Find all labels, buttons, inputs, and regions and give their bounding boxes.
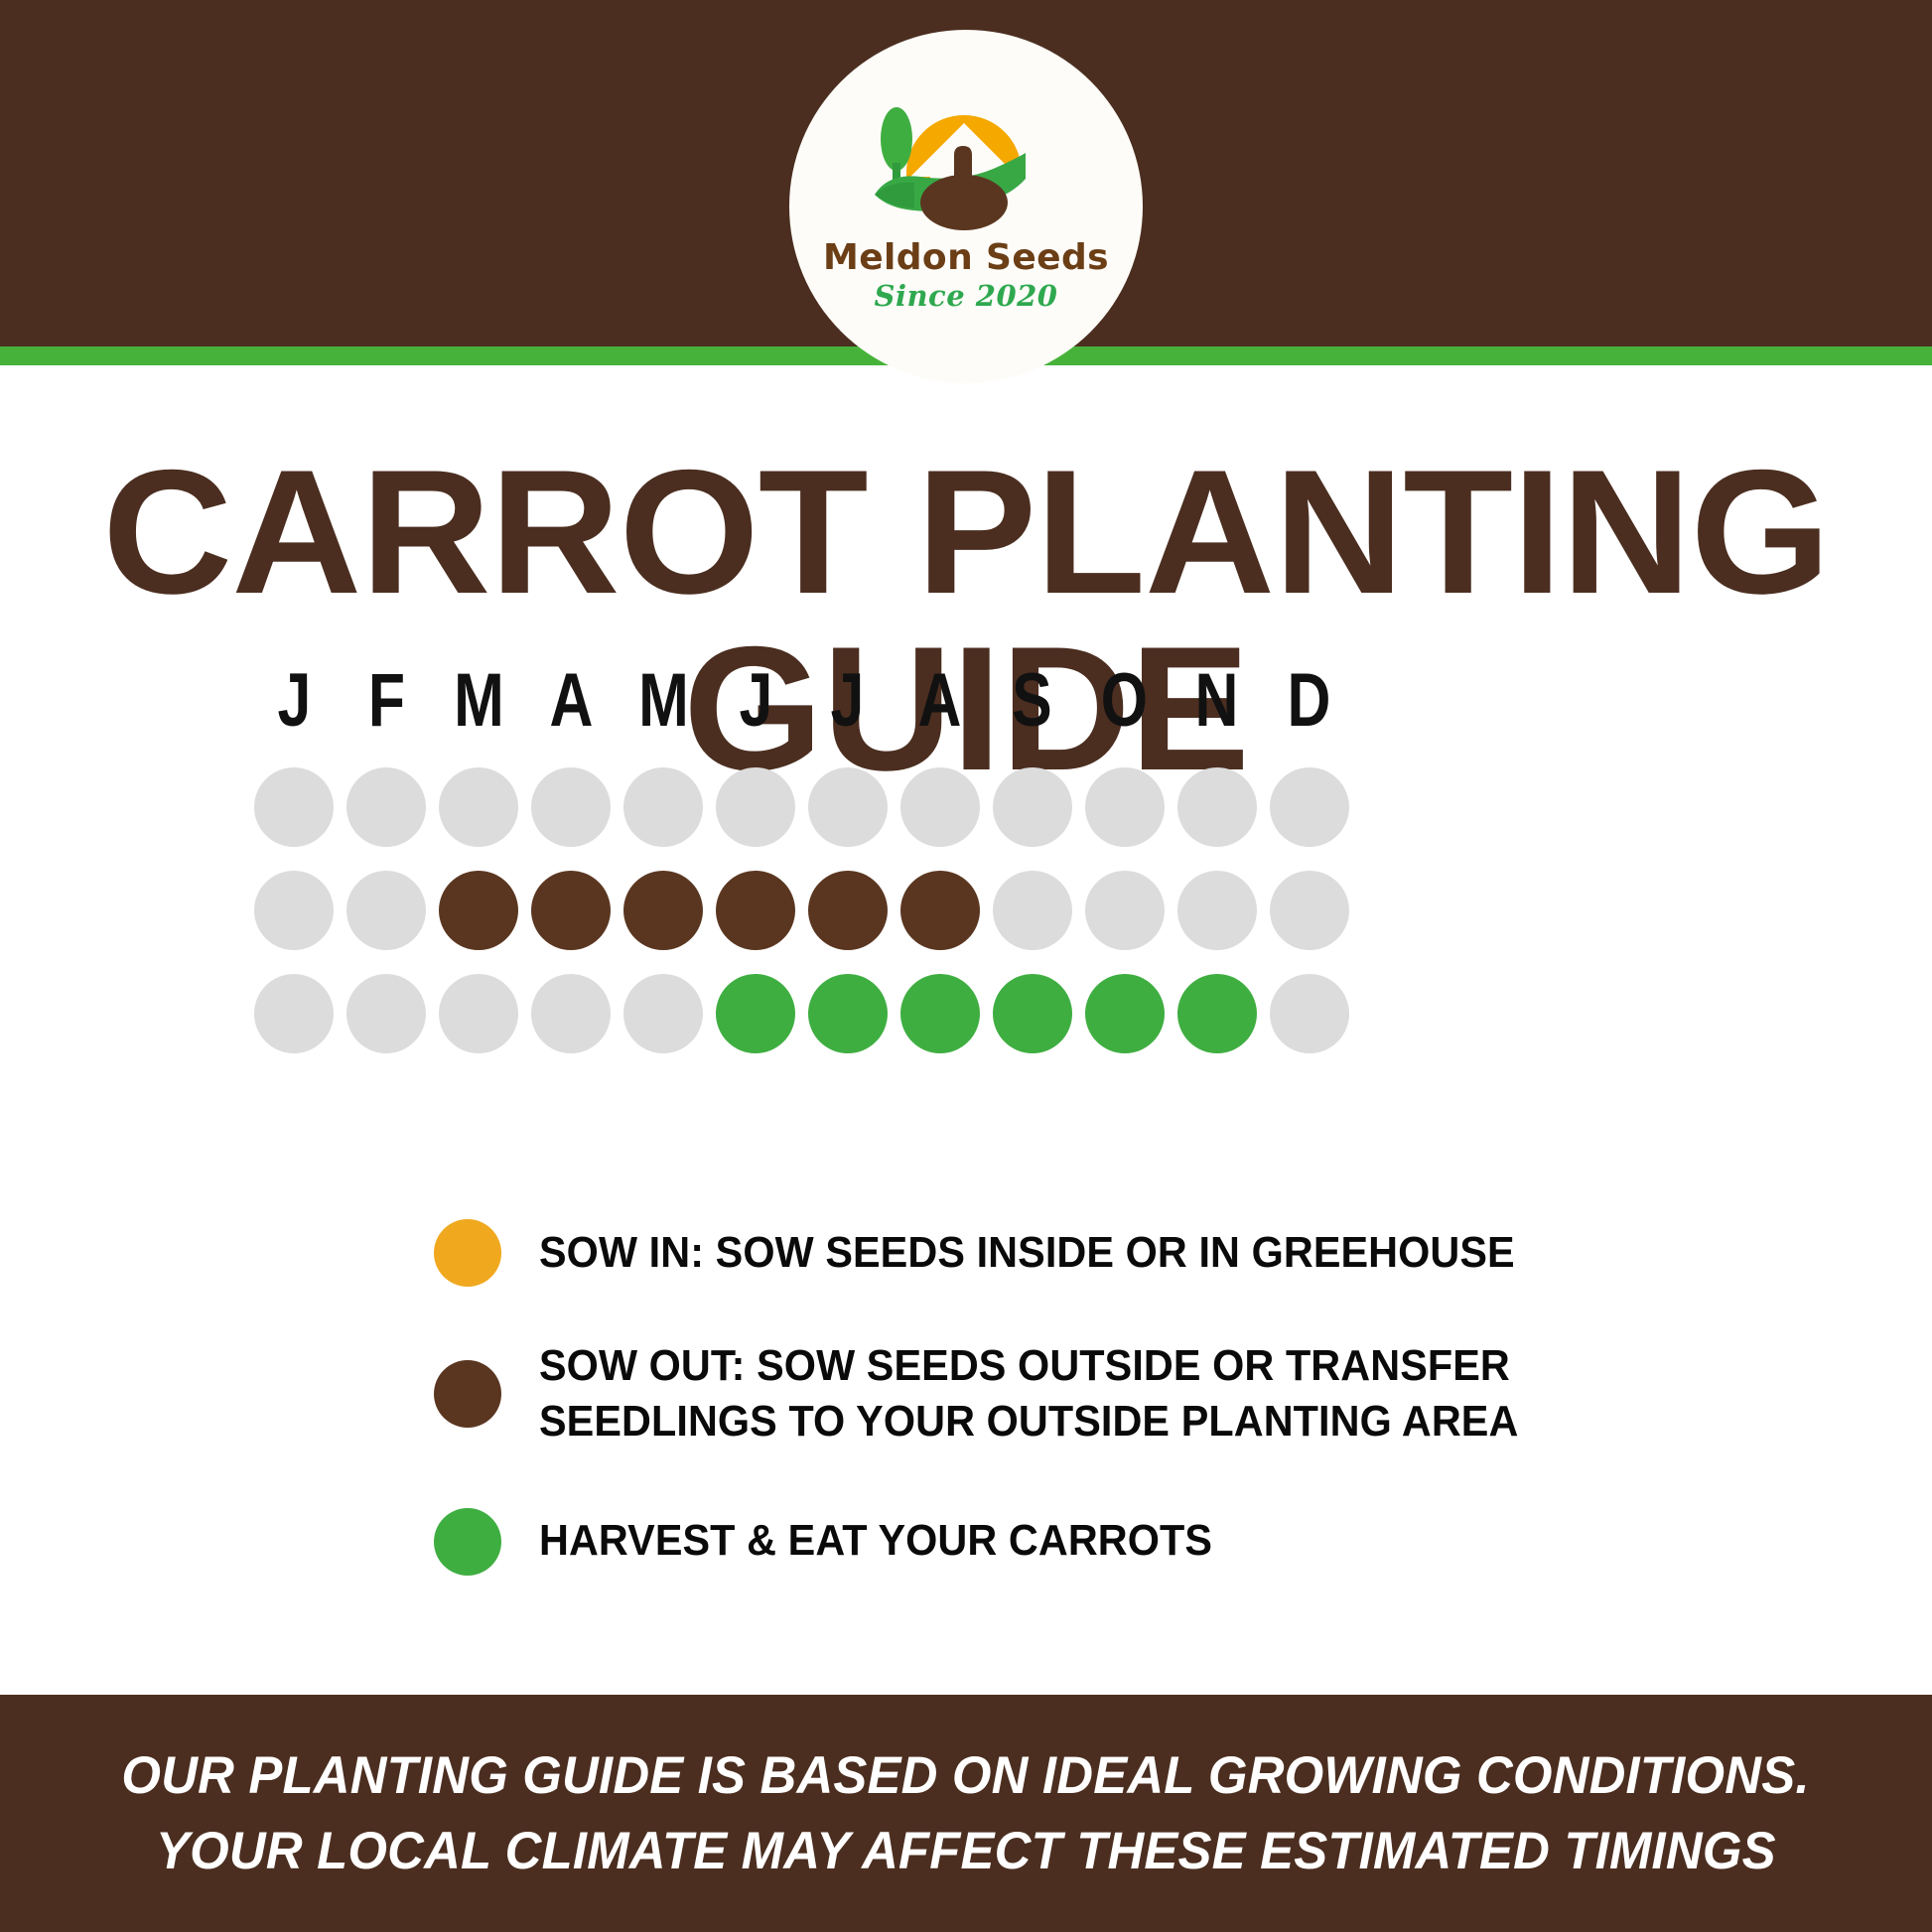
calendar-dot-sow_in-nov bbox=[1177, 767, 1257, 847]
calendar-dot-sow_in-sep bbox=[993, 767, 1072, 847]
calendar-dot-harvest-jan bbox=[254, 974, 334, 1053]
calendar-dot-harvest-apr bbox=[531, 974, 611, 1053]
month-label-aug: A bbox=[903, 663, 977, 739]
calendar-dot-sow_out-aug bbox=[900, 871, 980, 950]
legend: SOW IN: SOW SEEDS INSIDE OR IN GREEHOUSE… bbox=[0, 1219, 1932, 1627]
calendar-cell-sow_out-may bbox=[618, 871, 710, 950]
legend-swatch-wrap-sow-out bbox=[362, 1360, 501, 1428]
calendar-dot-sow_out-nov bbox=[1177, 871, 1257, 950]
calendar-dot-harvest-mar bbox=[439, 974, 518, 1053]
month-label-jun: J bbox=[719, 663, 792, 739]
calendar-dot-harvest-may bbox=[623, 974, 703, 1053]
calendar-cell-harvest-jan bbox=[248, 974, 341, 1053]
calendar-dot-harvest-jun bbox=[716, 974, 795, 1053]
calendar-dot-harvest-sep bbox=[993, 974, 1072, 1053]
month-label-mar: M bbox=[442, 663, 515, 739]
footer-line-1: OUR PLANTING GUIDE IS BASED ON IDEAL GRO… bbox=[122, 1738, 1810, 1813]
legend-swatch-sow-out bbox=[434, 1360, 501, 1428]
legend-item-sow-in: SOW IN: SOW SEEDS INSIDE OR IN GREEHOUSE bbox=[0, 1219, 1932, 1287]
month-label-jan: J bbox=[257, 663, 331, 739]
calendar-row-sow-in bbox=[248, 767, 1355, 847]
footer-line-2: YOUR LOCAL CLIMATE MAY AFFECT THESE ESTI… bbox=[156, 1814, 1776, 1888]
calendar-cell-sow_out-feb bbox=[341, 871, 433, 950]
legend-swatch-wrap-sow-in bbox=[362, 1219, 501, 1287]
calendar-cell-harvest-sep bbox=[986, 974, 1078, 1053]
calendar-dot-sow_out-jun bbox=[716, 871, 795, 950]
calendar-dot-sow_in-aug bbox=[900, 767, 980, 847]
calendar-cell-sow_out-sep bbox=[986, 871, 1078, 950]
calendar-cell-harvest-mar bbox=[433, 974, 525, 1053]
calendar-cell-sow_out-aug bbox=[894, 871, 986, 950]
calendar-cell-sow_in-oct bbox=[1078, 767, 1171, 847]
month-header-row: J F M A M J J A S O N D bbox=[248, 663, 1355, 739]
calendar-dot-harvest-jul bbox=[808, 974, 888, 1053]
calendar-cell-harvest-apr bbox=[525, 974, 618, 1053]
legend-item-harvest: HARVEST & EAT YOUR CARROTS bbox=[0, 1508, 1932, 1576]
calendar-cell-sow_out-dec bbox=[1263, 871, 1355, 950]
legend-label-sow-out: SOW OUT: SOW SEEDS OUTSIDE OR TRANSFER S… bbox=[539, 1338, 1518, 1450]
brand-tagline: Since 2020 bbox=[875, 282, 1058, 311]
month-label-sep: S bbox=[996, 663, 1069, 739]
calendar-dot-harvest-oct bbox=[1085, 974, 1165, 1053]
calendar-cell-sow_in-may bbox=[618, 767, 710, 847]
calendar-dot-sow_in-jul bbox=[808, 767, 888, 847]
month-label-oct: O bbox=[1088, 663, 1162, 739]
calendar-dot-sow_in-apr bbox=[531, 767, 611, 847]
calendar-dot-harvest-aug bbox=[900, 974, 980, 1053]
calendar-row-sow-out bbox=[248, 871, 1355, 950]
calendar-cell-sow_out-apr bbox=[525, 871, 618, 950]
calendar-cell-sow_in-feb bbox=[341, 767, 433, 847]
calendar-dot-sow_out-sep bbox=[993, 871, 1072, 950]
calendar-cell-sow_in-dec bbox=[1263, 767, 1355, 847]
calendar-cell-sow_out-jul bbox=[801, 871, 894, 950]
month-label-nov: N bbox=[1179, 663, 1253, 739]
legend-label-sow-in: SOW IN: SOW SEEDS INSIDE OR IN GREEHOUSE bbox=[539, 1225, 1515, 1281]
calendar-row-harvest bbox=[248, 974, 1355, 1053]
calendar-dot-sow_out-jul bbox=[808, 871, 888, 950]
legend-swatch-sow-in bbox=[434, 1219, 501, 1287]
calendar-dot-sow_in-may bbox=[623, 767, 703, 847]
calendar-cell-sow_in-apr bbox=[525, 767, 618, 847]
calendar-dot-sow_in-dec bbox=[1270, 767, 1349, 847]
legend-swatch-wrap-harvest bbox=[362, 1508, 501, 1576]
calendar-dot-sow_out-may bbox=[623, 871, 703, 950]
calendar-dot-sow_out-feb bbox=[346, 871, 426, 950]
calendar-cell-harvest-may bbox=[618, 974, 710, 1053]
calendar-cell-sow_in-sep bbox=[986, 767, 1078, 847]
calendar-dot-sow_out-oct bbox=[1085, 871, 1165, 950]
calendar-cell-harvest-feb bbox=[341, 974, 433, 1053]
calendar-cell-sow_in-jun bbox=[710, 767, 802, 847]
calendar-cell-sow_out-jun bbox=[710, 871, 802, 950]
calendar-dot-sow_in-feb bbox=[346, 767, 426, 847]
month-label-dec: D bbox=[1272, 663, 1345, 739]
farmhouse-sun-field-icon bbox=[869, 77, 1063, 236]
calendar-dot-sow_out-jan bbox=[254, 871, 334, 950]
calendar-dot-harvest-feb bbox=[346, 974, 426, 1053]
footer-band: OUR PLANTING GUIDE IS BASED ON IDEAL GRO… bbox=[0, 1695, 1932, 1932]
month-label-jul: J bbox=[811, 663, 885, 739]
calendar-dot-sow_in-jan bbox=[254, 767, 334, 847]
calendar-dot-sow_out-dec bbox=[1270, 871, 1349, 950]
calendar-dot-sow_in-oct bbox=[1085, 767, 1165, 847]
calendar-dot-sow_out-mar bbox=[439, 871, 518, 950]
calendar-cell-harvest-dec bbox=[1263, 974, 1355, 1053]
month-label-may: M bbox=[626, 663, 700, 739]
calendar-dot-sow_in-jun bbox=[716, 767, 795, 847]
calendar-cell-sow_out-oct bbox=[1078, 871, 1171, 950]
legend-item-sow-out: SOW OUT: SOW SEEDS OUTSIDE OR TRANSFER S… bbox=[0, 1338, 1932, 1450]
calendar-cell-sow_out-nov bbox=[1171, 871, 1263, 950]
calendar-cell-harvest-aug bbox=[894, 974, 986, 1053]
calendar-dot-sow_in-mar bbox=[439, 767, 518, 847]
calendar-cell-harvest-oct bbox=[1078, 974, 1171, 1053]
calendar-cell-harvest-nov bbox=[1171, 974, 1263, 1053]
calendar-dot-harvest-dec bbox=[1270, 974, 1349, 1053]
calendar-dot-sow_out-apr bbox=[531, 871, 611, 950]
brand-name: Meldon Seeds bbox=[823, 240, 1109, 276]
calendar-cell-sow_out-jan bbox=[248, 871, 341, 950]
calendar-cell-sow_in-aug bbox=[894, 767, 986, 847]
calendar-cell-sow_out-mar bbox=[433, 871, 525, 950]
brand-logo-badge: Meldon Seeds Since 2020 bbox=[789, 30, 1143, 383]
month-label-feb: F bbox=[349, 663, 423, 739]
legend-label-harvest: HARVEST & EAT YOUR CARROTS bbox=[539, 1513, 1212, 1569]
calendar-dot-harvest-nov bbox=[1177, 974, 1257, 1053]
calendar-cell-harvest-jul bbox=[801, 974, 894, 1053]
calendar-cell-sow_in-nov bbox=[1171, 767, 1263, 847]
month-label-apr: A bbox=[534, 663, 608, 739]
calendar-cell-harvest-jun bbox=[710, 974, 802, 1053]
calendar-cell-sow_in-mar bbox=[433, 767, 525, 847]
planting-calendar: J F M A M J J A S O N D bbox=[248, 663, 1658, 1053]
calendar-cell-sow_in-jul bbox=[801, 767, 894, 847]
legend-swatch-harvest bbox=[434, 1508, 501, 1576]
calendar-cell-sow_in-jan bbox=[248, 767, 341, 847]
